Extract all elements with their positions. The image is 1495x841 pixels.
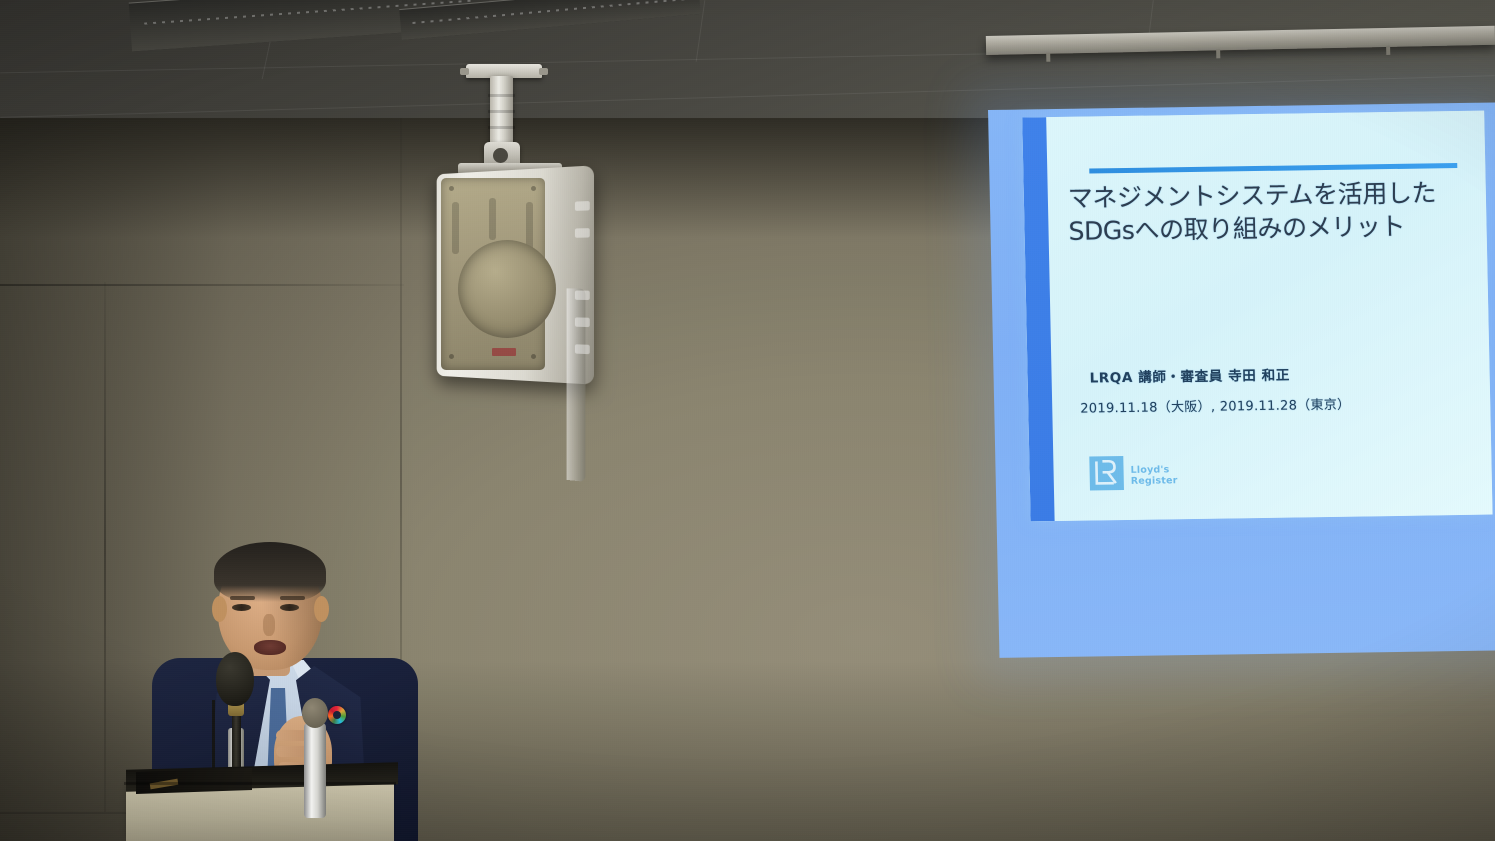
- eye-left: [232, 604, 251, 611]
- lectern-front-edge: [124, 782, 396, 785]
- projected-image-area: マネジメントシステムを活用した SDGsへの取り組みのメリット LRQA 講師・…: [988, 102, 1495, 657]
- lr-wordmark-line-1: Lloyd's: [1130, 464, 1177, 476]
- lr-wordmark: Lloyd's Register: [1130, 455, 1177, 487]
- microphone-windscreen: [302, 698, 328, 728]
- ceiling-speaker: [420, 64, 610, 384]
- lloyds-register-logo: Lloyd's Register: [1089, 455, 1177, 490]
- slide-title: マネジメントシステムを活用した SDGsへの取り組みのメリット: [1068, 177, 1479, 248]
- mouth: [254, 640, 286, 655]
- wall-panel-seam: [104, 282, 106, 812]
- eyebrow-left: [230, 596, 255, 600]
- ear-right: [314, 596, 329, 622]
- ceiling-vent-icon: [399, 0, 701, 40]
- speaker-brand-badge: [492, 348, 516, 356]
- lr-monogram-icon: [1089, 456, 1124, 490]
- gooseneck-microphone: [216, 652, 254, 706]
- slide-title-line-2: SDGsへの取り組みのメリット: [1068, 209, 1479, 248]
- laptop-on-lectern: [136, 768, 252, 794]
- lr-wordmark-line-2: Register: [1131, 475, 1178, 487]
- presentation-slide: マネジメントシステムを活用した SDGsへの取り組みのメリット LRQA 講師・…: [1022, 111, 1492, 522]
- slide-title-line-1: マネジメントシステムを活用した: [1068, 177, 1479, 216]
- presentation-room-photo: マネジメントシステムを活用した SDGsへの取り組みのメリット LRQA 講師・…: [0, 0, 1495, 841]
- eye-right: [280, 604, 299, 611]
- wall-trim-line: [0, 284, 404, 286]
- gooseneck-arm: [232, 712, 241, 770]
- nose: [263, 614, 275, 636]
- hair: [214, 542, 326, 602]
- handheld-microphone: [304, 723, 326, 818]
- speaker-driver-cone: [458, 240, 556, 338]
- ear-left: [212, 596, 227, 622]
- eyebrow-right: [280, 596, 305, 600]
- ceiling: [0, 0, 1495, 122]
- sdgs-lapel-pin-icon: [328, 706, 346, 724]
